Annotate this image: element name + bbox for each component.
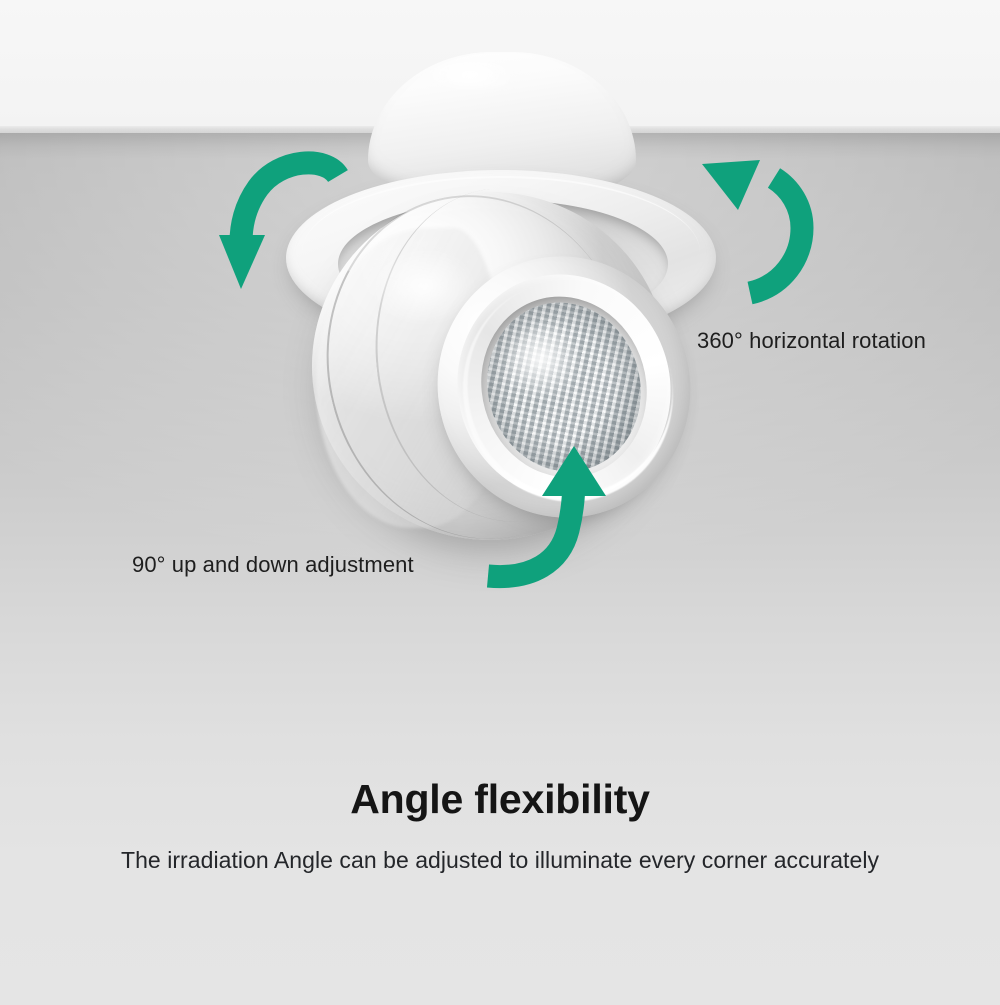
label-horizontal-rotation: 360° horizontal rotation [697, 328, 926, 354]
curved-arrow-down-left-icon [218, 152, 358, 292]
curved-arrow-up-left-icon [698, 158, 828, 298]
marketing-copy: Angle flexibility The irradiation Angle … [0, 778, 1000, 875]
subheadline: The irradiation Angle can be adjusted to… [0, 847, 1000, 875]
curved-arrow-up-icon [486, 446, 636, 588]
headline: Angle flexibility [0, 778, 1000, 821]
housing-highlight [422, 60, 542, 90]
product-feature-image: 360° horizontal rotation 90° up and down… [0, 0, 1000, 1005]
label-vertical-adjustment: 90° up and down adjustment [132, 552, 414, 578]
